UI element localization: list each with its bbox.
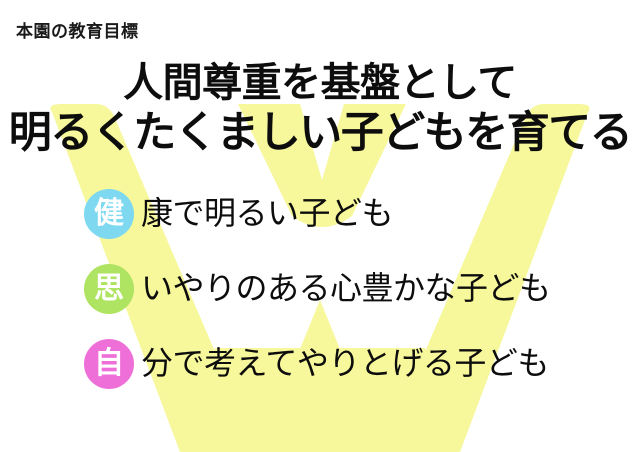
slide-canvas: 本園の教育目標 人間尊重を基盤として 明るくたくましい子どもを育てる 健 康で明… [0, 0, 640, 452]
goal-list: 健 康で明るい子ども 思 いやりのある心豊かな子ども 自 分で考えてやりとげる子… [84, 186, 640, 411]
goal-text-independence: 分で考えてやりとげる子ども [141, 347, 640, 381]
goal-text-compassion: いやりのある心豊かな子ども [141, 272, 640, 306]
badge-compassion-icon: 思 [84, 264, 134, 314]
list-item-independence: 自 分で考えてやりとげる子ども [84, 336, 640, 392]
page-title: 本園の教育目標 [16, 17, 139, 42]
heading-line-1: 人間尊重を基盤として [0, 60, 640, 107]
list-item-health: 健 康で明るい子ども [84, 186, 640, 242]
list-item-compassion: 思 いやりのある心豊かな子ども [84, 261, 640, 317]
goal-text-health: 康で明るい子ども [141, 197, 640, 231]
badge-independence-icon: 自 [84, 339, 134, 389]
badge-health-icon: 健 [84, 189, 134, 239]
heading-line-2: 明るくたくましい子どもを育てる [0, 107, 640, 159]
main-heading: 人間尊重を基盤として 明るくたくましい子どもを育てる [0, 60, 640, 159]
